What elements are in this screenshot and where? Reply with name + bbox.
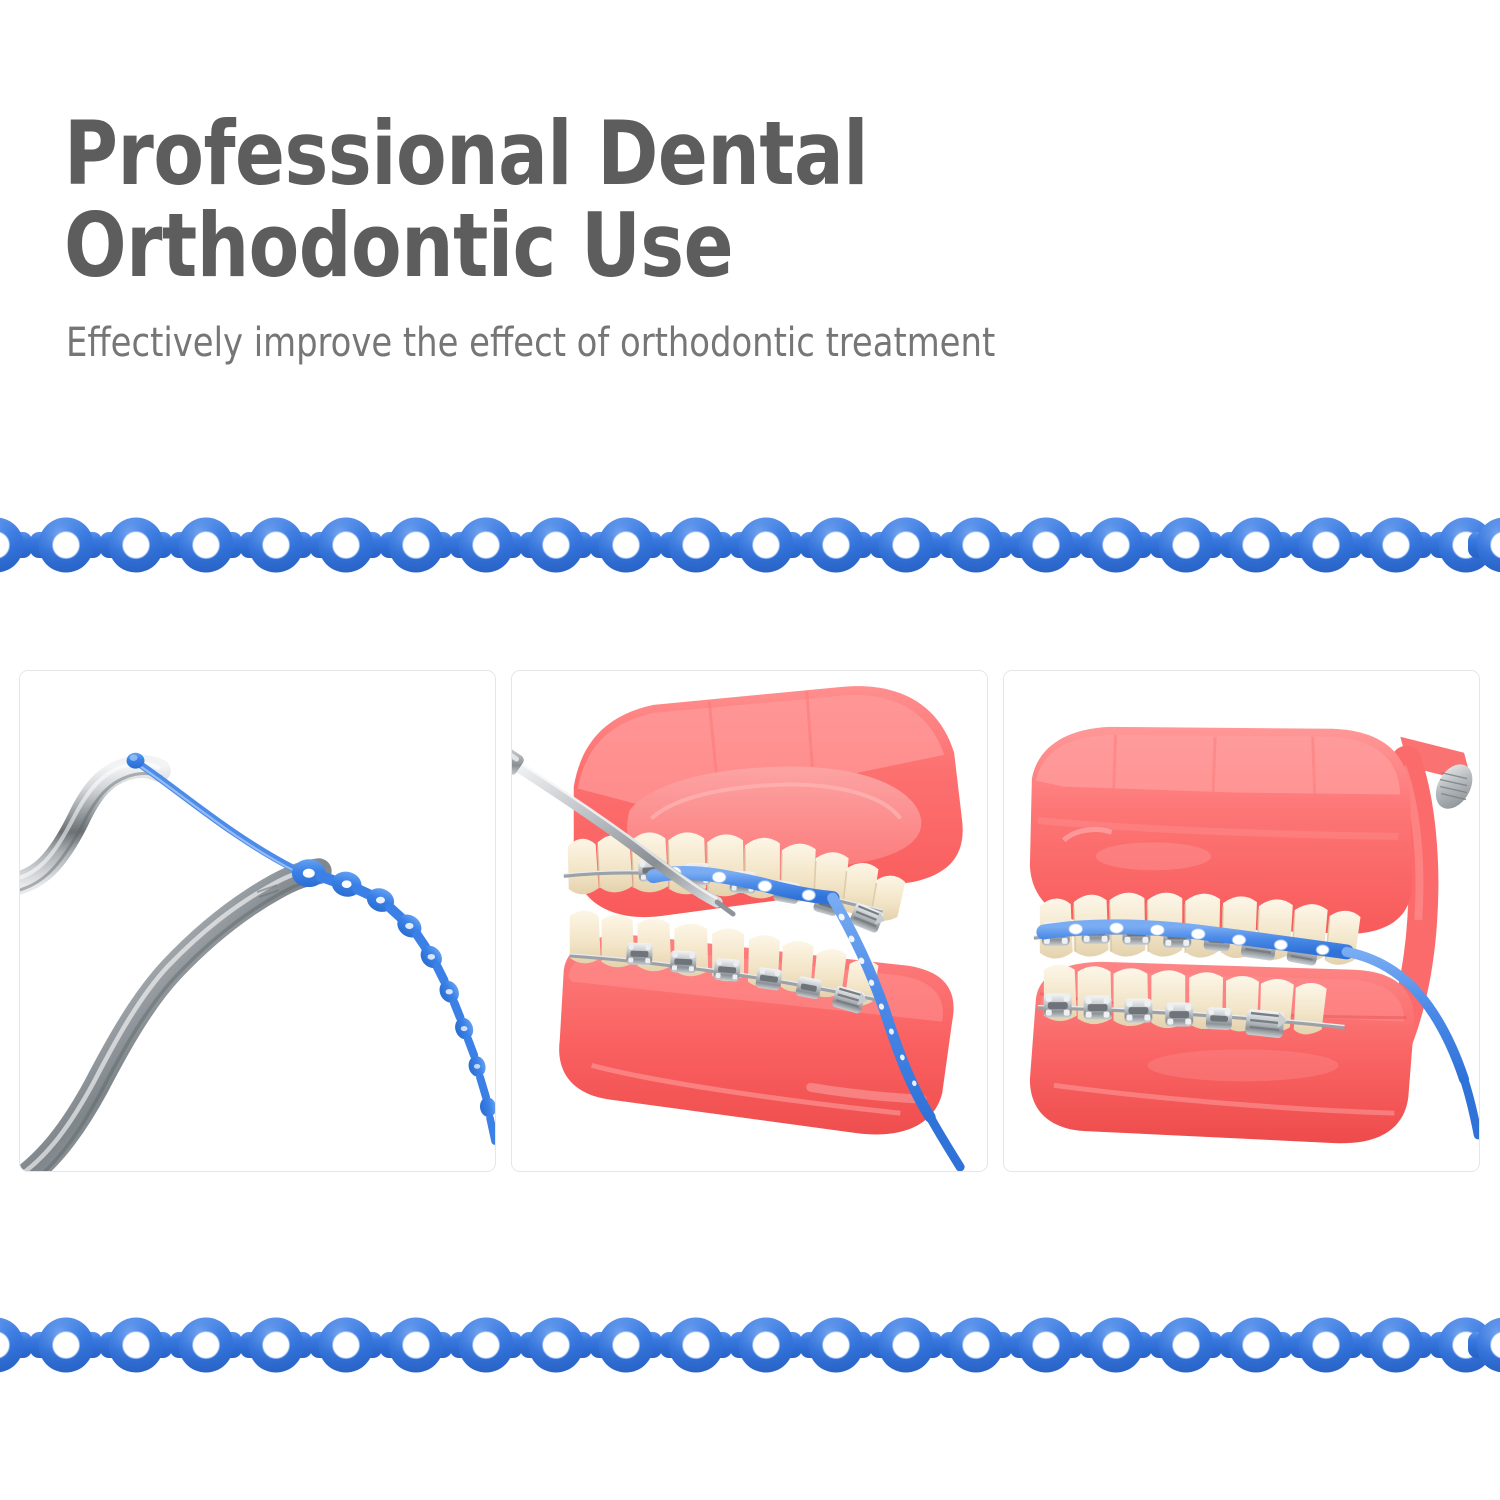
page-subtitle: Effectively improve the effect of orthod… <box>66 320 995 366</box>
page-title-line-2: Orthodontic Use <box>64 200 1180 292</box>
product-image-gallery <box>0 670 1500 1174</box>
power-chain-icon <box>0 1285 1500 1405</box>
power-chain-icon <box>0 485 1500 605</box>
header: Professional Dental Orthodontic Use Effe… <box>0 0 1500 440</box>
product-photo-typodont-side[interactable] <box>1003 670 1480 1172</box>
typodont-with-probe-illustration <box>512 671 987 1171</box>
typodont-side-view-illustration <box>1004 671 1479 1171</box>
blue-power-chain-divider-top <box>0 485 1500 605</box>
blue-power-chain-divider-bottom <box>0 1285 1500 1405</box>
page-title: Professional Dental Orthodontic Use <box>64 108 1264 292</box>
product-photo-pliers-chain[interactable] <box>19 670 496 1172</box>
pliers-with-power-chain-illustration <box>20 671 495 1171</box>
page-title-line-1: Professional Dental <box>64 108 1180 200</box>
product-photo-typodont-probe[interactable] <box>511 670 988 1172</box>
